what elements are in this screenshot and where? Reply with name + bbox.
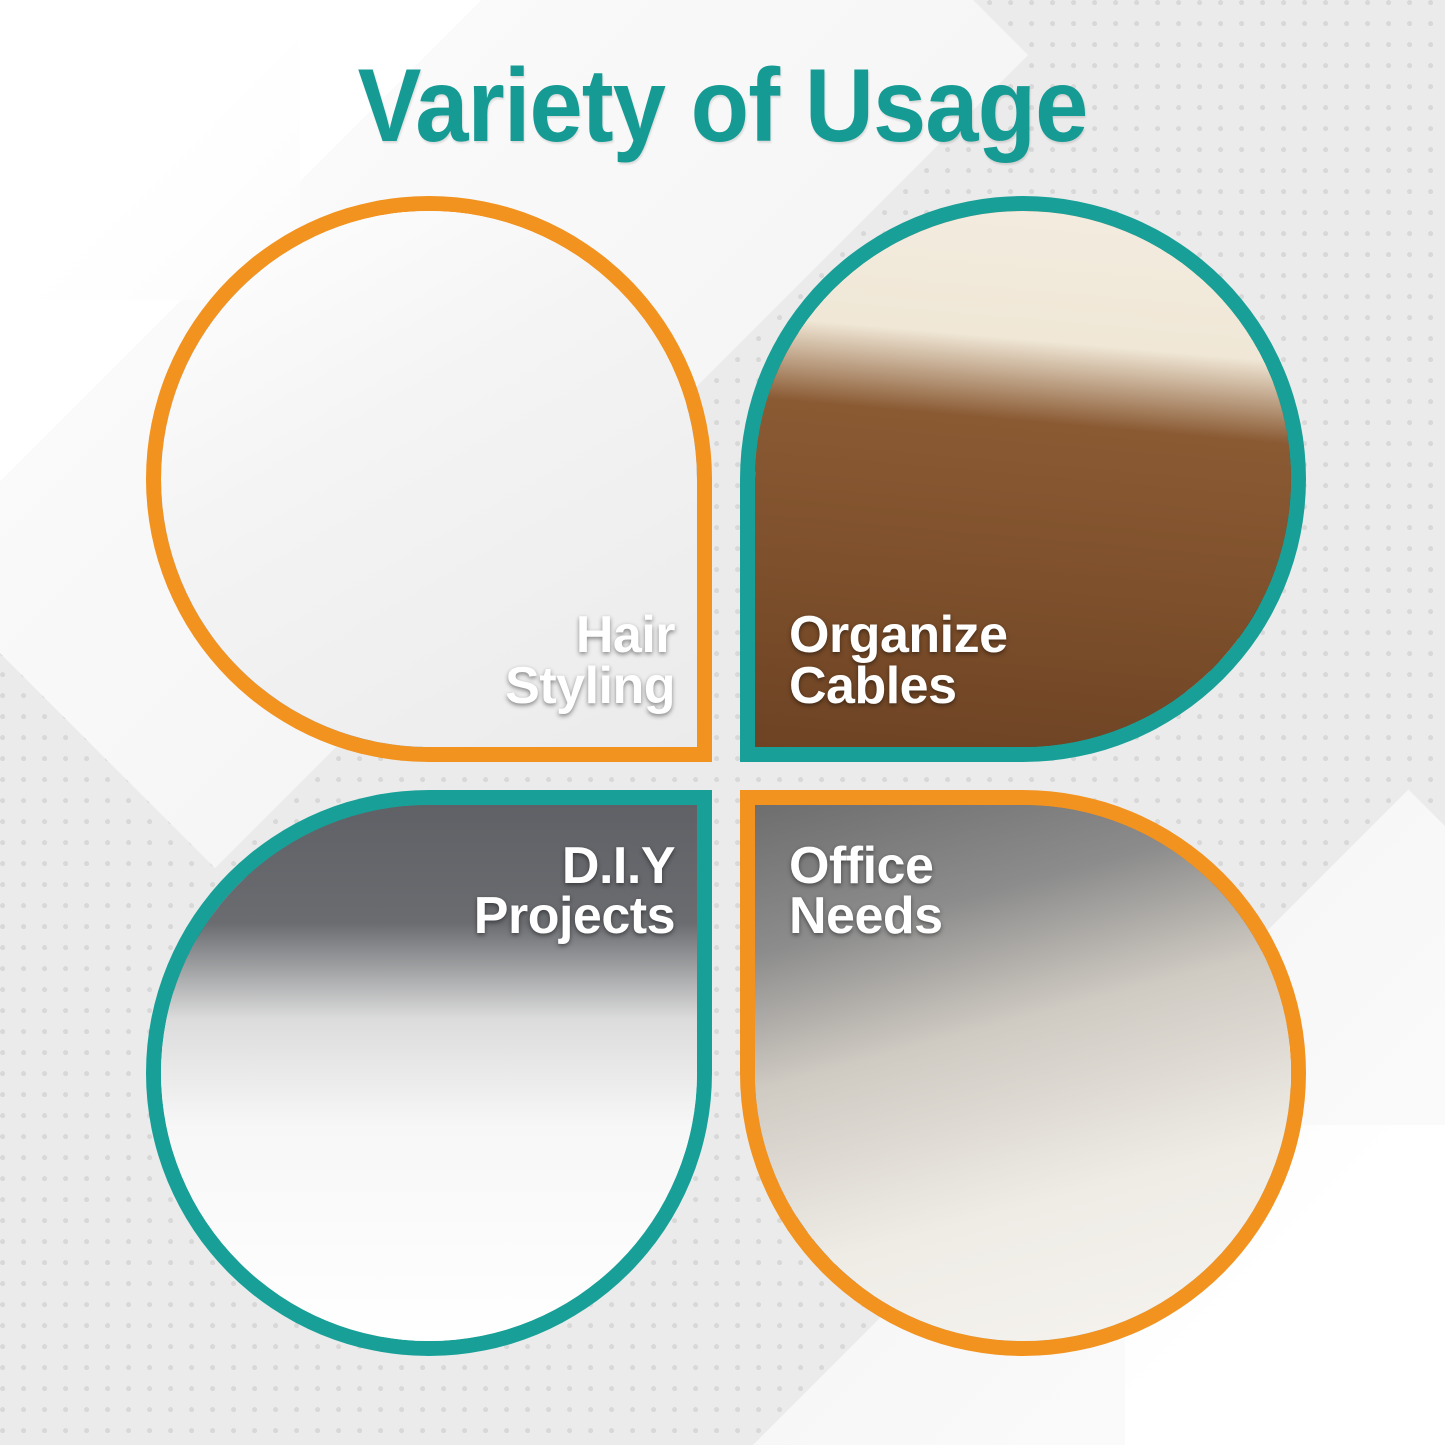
caption-office-needs: Office Needs	[789, 841, 943, 942]
photo-hair-styling: Hair Styling	[161, 211, 697, 747]
photo-diy-projects: D.I.Y Projects	[161, 805, 697, 1341]
usage-card-diy-projects[interactable]: D.I.Y Projects	[146, 790, 712, 1356]
usage-card-organize-cables[interactable]: Organize Cables	[740, 196, 1306, 762]
caption-diy-projects: D.I.Y Projects	[474, 841, 675, 942]
usage-card-hair-styling[interactable]: Hair Styling	[146, 196, 712, 762]
page-title: Variety of Usage	[58, 52, 1387, 161]
usage-card-office-needs[interactable]: Office Needs	[740, 790, 1306, 1356]
caption-hair-styling: Hair Styling	[505, 610, 675, 711]
caption-organize-cables: Organize Cables	[789, 610, 1008, 711]
photo-office-needs: Office Needs	[755, 805, 1291, 1341]
usage-petal-grid: Hair Styling	[146, 196, 1306, 1356]
photo-organize-cables: Organize Cables	[755, 211, 1291, 747]
